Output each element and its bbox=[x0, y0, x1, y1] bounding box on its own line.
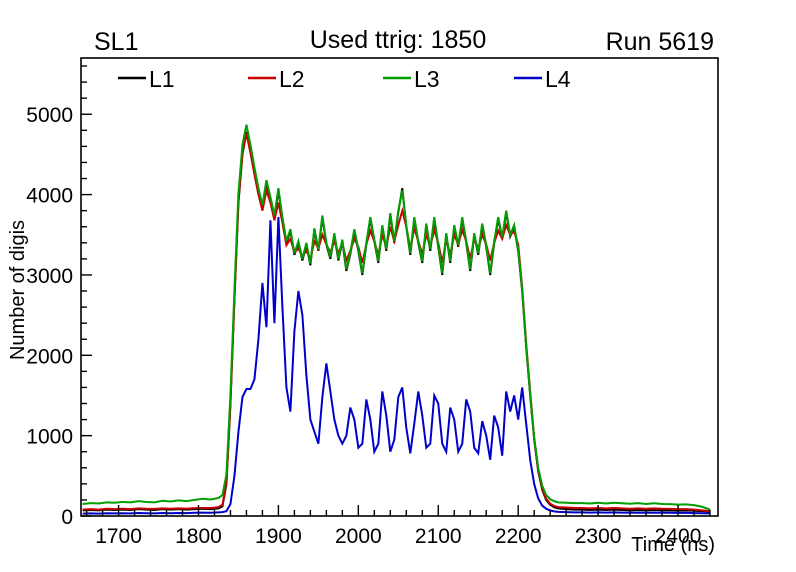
x-tick-label: 2100 bbox=[415, 525, 462, 548]
x-tick-label: 2400 bbox=[655, 525, 702, 548]
chart-root: SL1 Used ttrig: 1850 Run 5619 Number of … bbox=[0, 0, 796, 572]
plot-title: Used ttrig: 1850 bbox=[310, 26, 487, 54]
legend-label-l3: L3 bbox=[414, 66, 440, 92]
y-tick-label: 1000 bbox=[26, 426, 73, 449]
y-tick-label: 5000 bbox=[26, 104, 73, 127]
legend-label-l4: L4 bbox=[545, 66, 571, 92]
digis-vs-time-plot: SL1 Used ttrig: 1850 Run 5619 Number of … bbox=[0, 0, 796, 572]
run-number-label: Run 5619 bbox=[606, 28, 714, 56]
x-tick-label: 1800 bbox=[175, 525, 222, 548]
y-axis-title: Number of digis bbox=[7, 220, 29, 360]
legend-label-l2: L2 bbox=[279, 66, 305, 92]
x-tick-label: 2300 bbox=[575, 525, 622, 548]
x-tick-label: 1700 bbox=[95, 525, 142, 548]
superlayer-label: SL1 bbox=[94, 28, 138, 56]
y-tick-label: 0 bbox=[61, 506, 73, 529]
legend-label-l1: L1 bbox=[149, 66, 175, 92]
canvas-background bbox=[0, 0, 796, 572]
x-tick-label: 1900 bbox=[255, 525, 302, 548]
y-tick-label: 3000 bbox=[26, 265, 73, 288]
y-tick-label: 4000 bbox=[26, 185, 73, 208]
y-tick-label: 2000 bbox=[26, 345, 73, 368]
x-tick-label: 2200 bbox=[495, 525, 542, 548]
x-tick-label: 2000 bbox=[335, 525, 382, 548]
